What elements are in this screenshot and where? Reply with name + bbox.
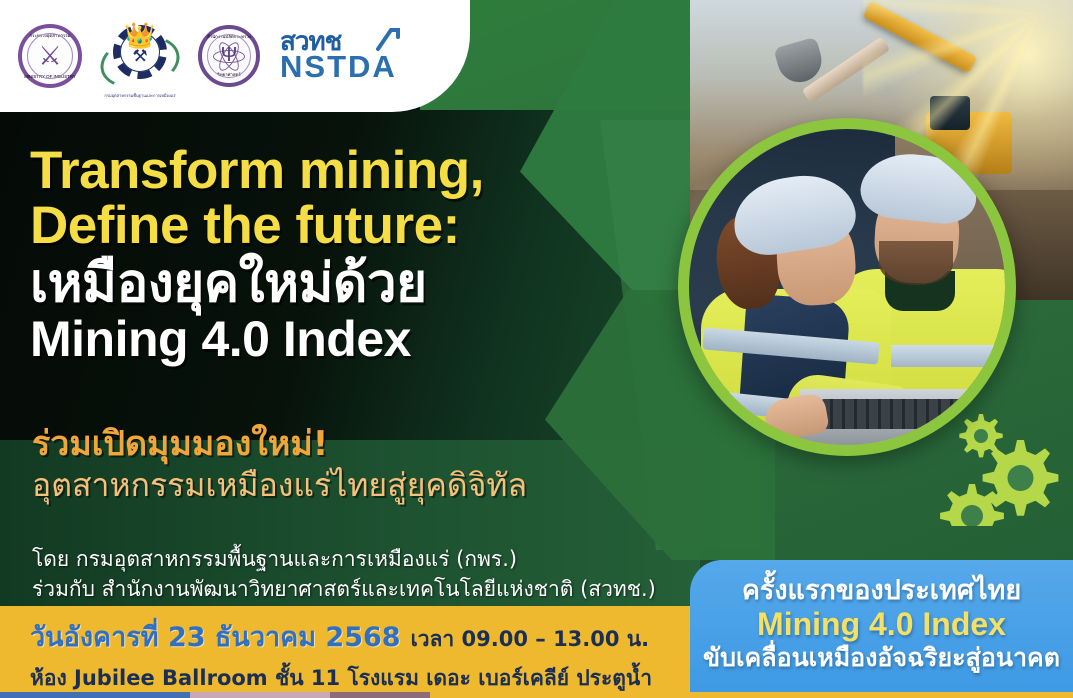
ost-seal-icon: สำนักงานปลัดกระทรวง Ψ วิทยาศาสตร์ xyxy=(198,25,260,87)
callout-box: ครั้งแรกของประเทศไทย Mining 4.0 Index ขั… xyxy=(690,560,1073,692)
ministry-of-industry-seal-icon: กระทรวงอุตสาหกรรม ⚔ MINISTRY OF INDUSTRY xyxy=(18,24,82,88)
event-time: เวลา 09.00 – 13.00 น. xyxy=(411,623,650,656)
engineers-photo xyxy=(689,129,1005,445)
seal-ring-bottom-text: MINISTRY OF INDUSTRY xyxy=(24,74,76,79)
ost-logo: สำนักงานปลัดกระทรวง Ψ วิทยาศาสตร์ xyxy=(198,25,260,87)
headline-line-4: Mining 4.0 Index xyxy=(30,314,670,366)
subheadline-line-2: อุตสาหกรรมเหมืองแร่ไทยสู่ยุคดิจิทัล xyxy=(32,466,692,504)
seal-ring-top-text: กระทรวงอุตสาหกรรม xyxy=(29,32,70,39)
nstda-logo: สวทช NSTDA xyxy=(280,31,397,81)
laptop-icon xyxy=(799,389,999,445)
headline-line-1: Transform mining, xyxy=(30,144,670,199)
event-poster: กระทรวงอุตสาหกรรม ⚔ MINISTRY OF INDUSTRY… xyxy=(0,0,1073,698)
nstda-english-text: NSTDA xyxy=(280,53,397,81)
logo-bar: กระทรวงอุตสาหกรรม ⚔ MINISTRY OF INDUSTRY… xyxy=(0,0,470,112)
organizer-block: โดย กรมอุตสาหกรรมพื้นฐานและการเหมืองแร่ … xyxy=(32,545,712,605)
engineers-photo-frame xyxy=(678,118,1016,456)
dpim-logo: 👑 ⚒ กรมอุตสาหกรรมพื้นฐานและการเหมืองแร่ xyxy=(96,12,184,100)
subheadline-block: ร่วมเปิดมุมมองใหม่! อุตสาหกรรมเหมืองแร่ไ… xyxy=(32,424,692,505)
deity-glyph-icon: ⚔ xyxy=(38,42,61,68)
trident-icon: Ψ xyxy=(221,45,238,65)
bottom-strip xyxy=(0,692,1073,698)
subheadline-line-1: ร่วมเปิดมุมมองใหม่! xyxy=(32,424,692,464)
atom-orbit-icon xyxy=(212,39,246,73)
nstda-swoosh-icon xyxy=(375,27,401,53)
callout-line-2: Mining 4.0 Index xyxy=(757,607,1006,643)
ost-ring-bottom-text: วิทยาศาสตร์ xyxy=(217,71,241,78)
pick-and-shovel-icon: ⚒ xyxy=(132,48,147,65)
ministry-of-industry-logo: กระทรวงอุตสาหกรรม ⚔ MINISTRY OF INDUSTRY xyxy=(18,24,82,88)
callout-line-1: ครั้งแรกของประเทศไทย xyxy=(742,576,1021,606)
dpim-caption: กรมอุตสาหกรรมพื้นฐานและการเหมืองแร่ xyxy=(104,92,175,99)
headline-block: Transform mining, Define the future: เหม… xyxy=(30,144,670,365)
organizer-line-2: ร่วมกับ สำนักงานพัฒนาวิทยาศาสตร์และเทคโน… xyxy=(32,575,712,605)
organizer-line-1: โดย กรมอุตสาหกรรมพื้นฐานและการเหมืองแร่ … xyxy=(32,545,712,575)
headline-line-2: Define the future: xyxy=(30,199,670,254)
dpim-seal-icon: 👑 ⚒ กรมอุตสาหกรรมพื้นฐานและการเหมืองแร่ xyxy=(96,12,184,100)
headline-line-3: เหมืองยุคใหม่ด้วย xyxy=(30,257,670,312)
event-details-band: วันอังคารที่ 23 ธันวาคม 2568 เวลา 09.00 … xyxy=(0,606,714,692)
dpim-deity-icon: 👑 xyxy=(124,24,155,49)
callout-line-3: ขับเคลื่อนเหมืองอัจฉริยะสู่อนาคต xyxy=(703,644,1060,672)
event-date: วันอังคารที่ 23 ธันวาคม 2568 xyxy=(30,615,401,658)
